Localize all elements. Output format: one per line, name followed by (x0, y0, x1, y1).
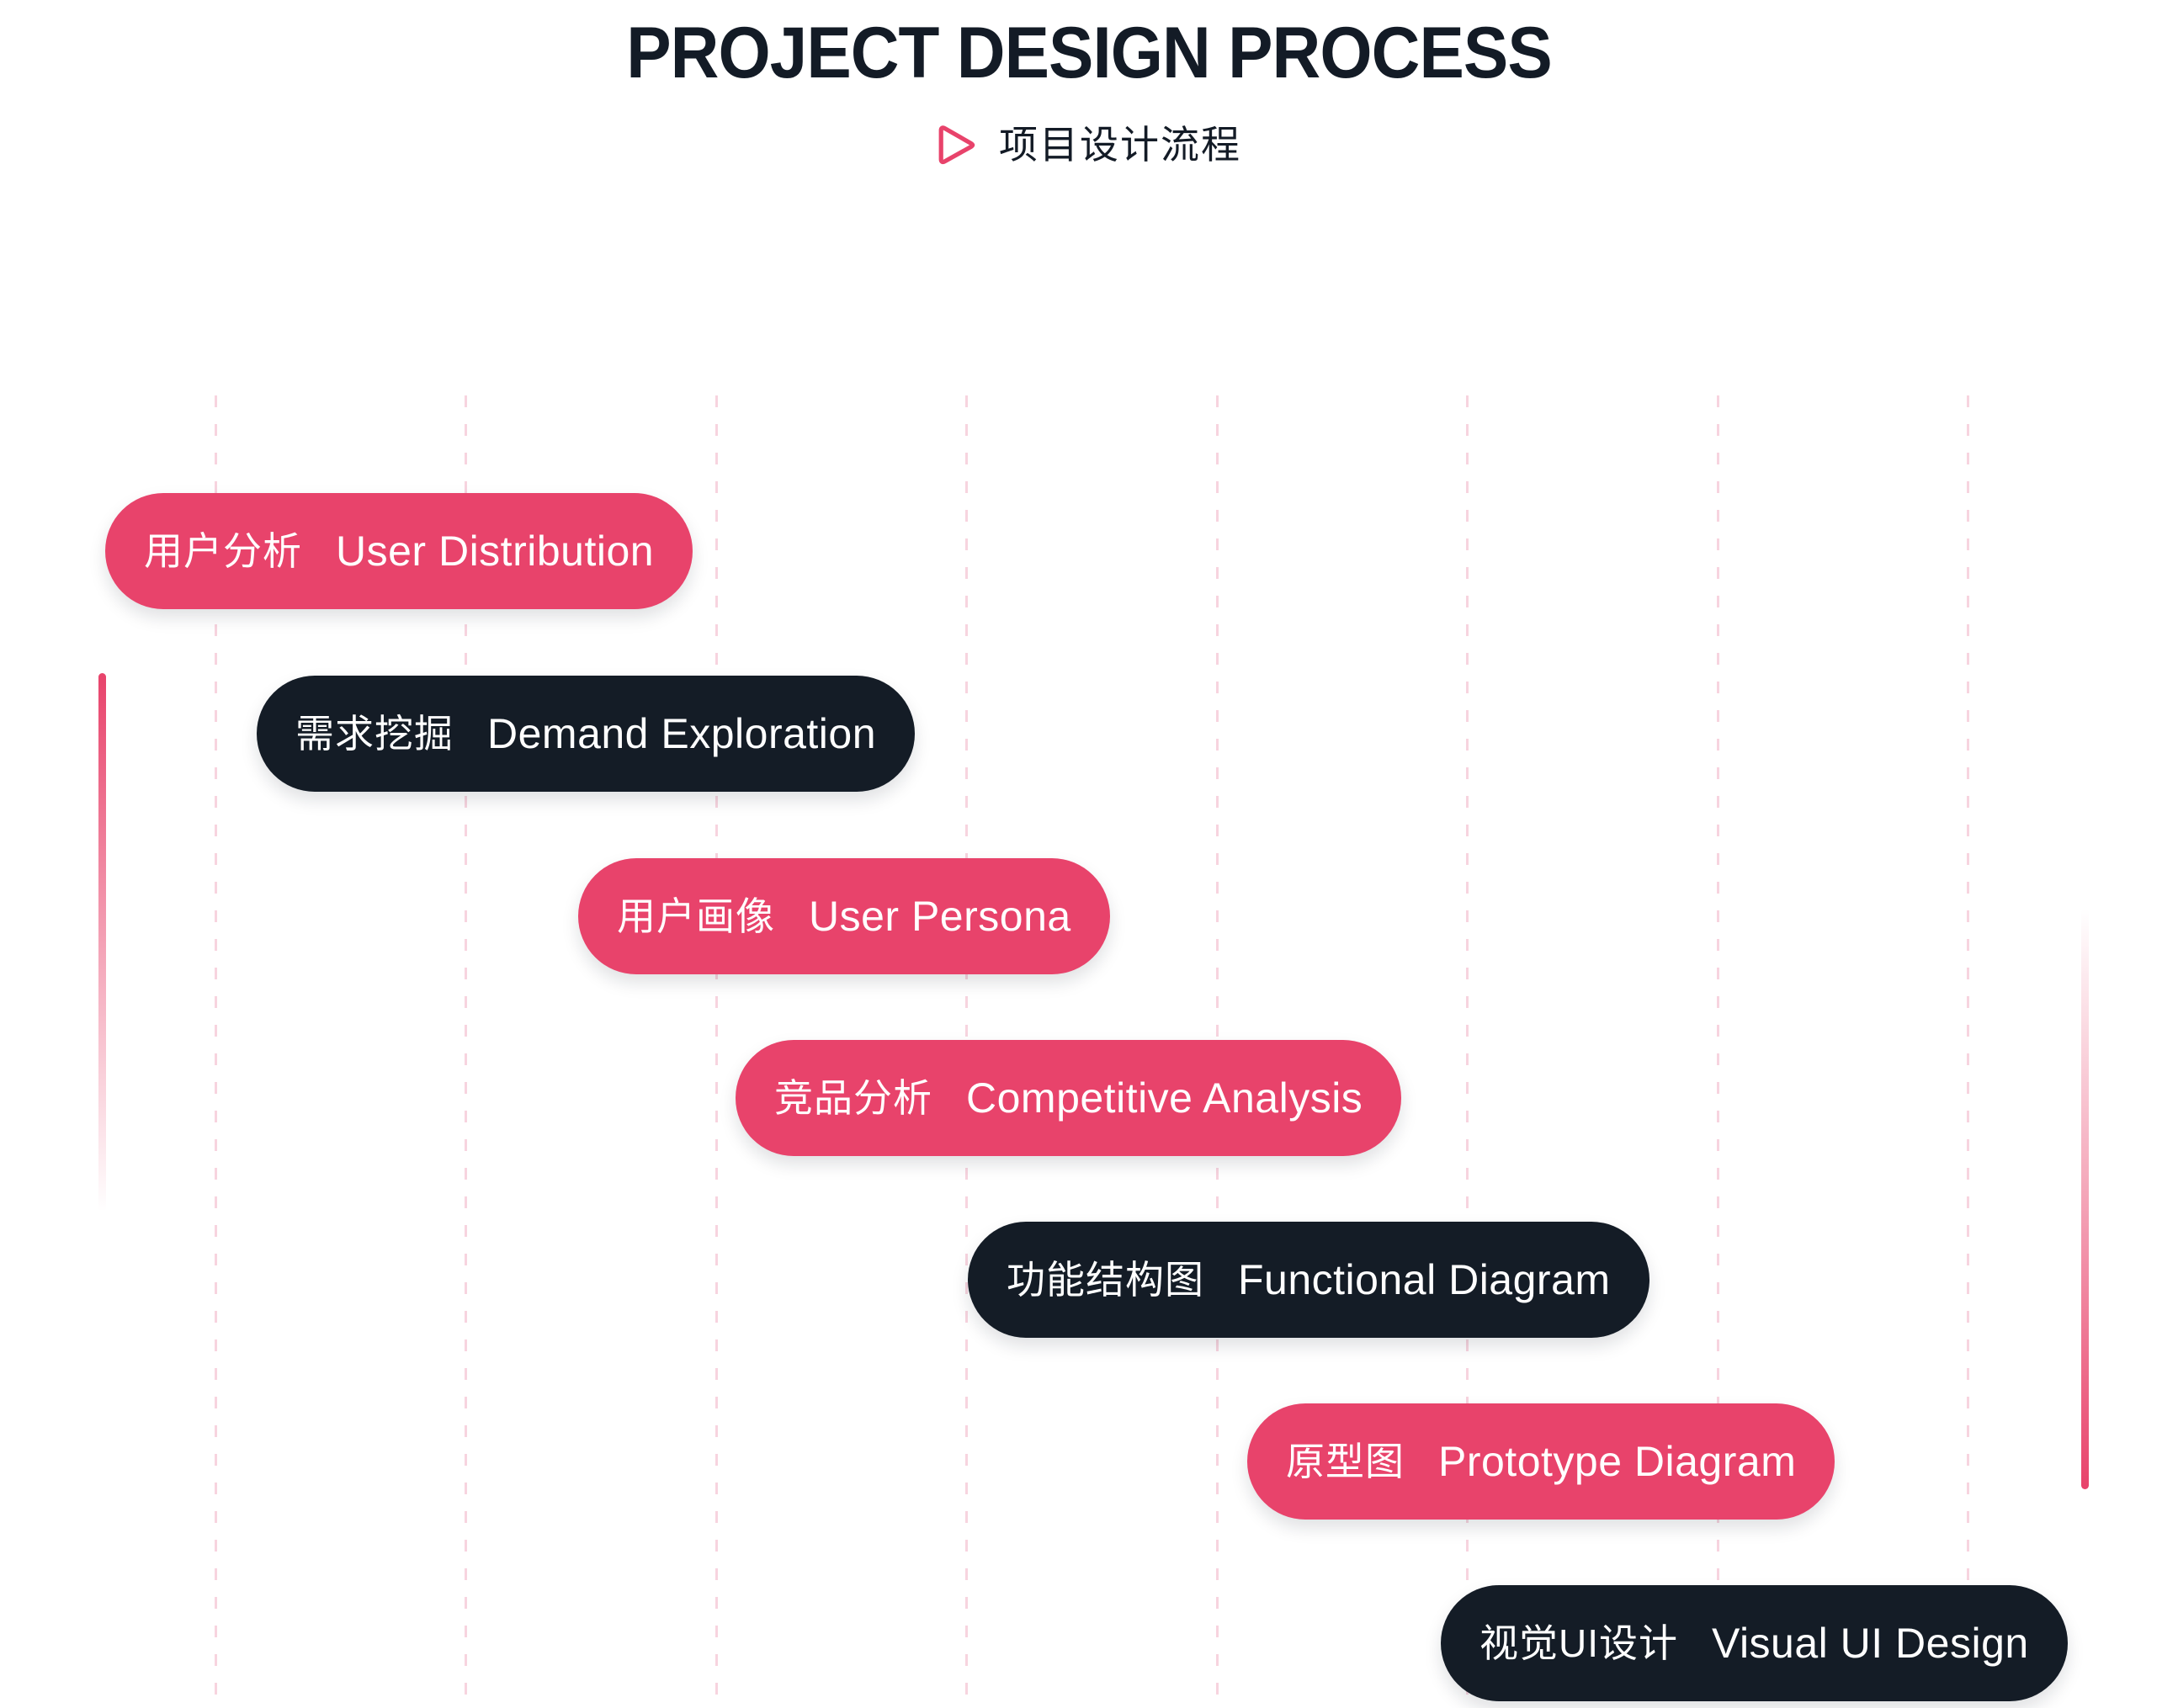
step-label-en: Functional Diagram (1238, 1259, 1611, 1301)
subtitle-row: 项目设计流程 (0, 123, 2178, 167)
header: PROJECT DESIGN PROCESS 项目设计流程 (0, 0, 2178, 167)
step-label-cn: 竞品分析 (774, 1079, 932, 1117)
step-label-en: Competitive Analysis (966, 1077, 1363, 1119)
step-label-cn: 需求挖掘 (295, 714, 454, 753)
step-label-en: Prototype Diagram (1438, 1440, 1796, 1483)
step-label-cn: 视觉UI设计 (1479, 1624, 1678, 1663)
step-label-cn: 用户画像 (617, 897, 775, 936)
process-step-pill-1[interactable]: 用户分析User Distribution (105, 493, 693, 609)
play-triangle-icon (937, 123, 977, 167)
page-title: PROJECT DESIGN PROCESS (77, 0, 2102, 89)
process-step-pill-6[interactable]: 原型图Prototype Diagram (1247, 1403, 1835, 1520)
process-steps-list: 用户分析User Distribution需求挖掘Demand Explorat… (0, 0, 2178, 1708)
step-label-en: User Persona (809, 895, 1071, 937)
process-step-pill-7[interactable]: 视觉UI设计Visual UI Design (1441, 1585, 2068, 1701)
step-label-en: Demand Exploration (487, 713, 876, 755)
process-step-pill-4[interactable]: 竞品分析Competitive Analysis (736, 1040, 1401, 1156)
process-step-pill-2[interactable]: 需求挖掘Demand Exploration (257, 676, 915, 792)
page-subtitle: 项目设计流程 (999, 125, 1241, 164)
process-step-pill-5[interactable]: 功能结构图Functional Diagram (968, 1222, 1649, 1338)
step-label-cn: 原型图 (1286, 1442, 1405, 1481)
project-design-process-infographic: PROJECT DESIGN PROCESS 项目设计流程 用户分析User D… (0, 0, 2178, 1708)
step-label-cn: 功能结构图 (1007, 1260, 1204, 1299)
step-label-en: Visual UI Design (1712, 1622, 2029, 1664)
step-label-cn: 用户分析 (144, 532, 302, 570)
process-step-pill-3[interactable]: 用户画像User Persona (578, 858, 1110, 974)
step-label-en: User Distribution (336, 530, 654, 572)
